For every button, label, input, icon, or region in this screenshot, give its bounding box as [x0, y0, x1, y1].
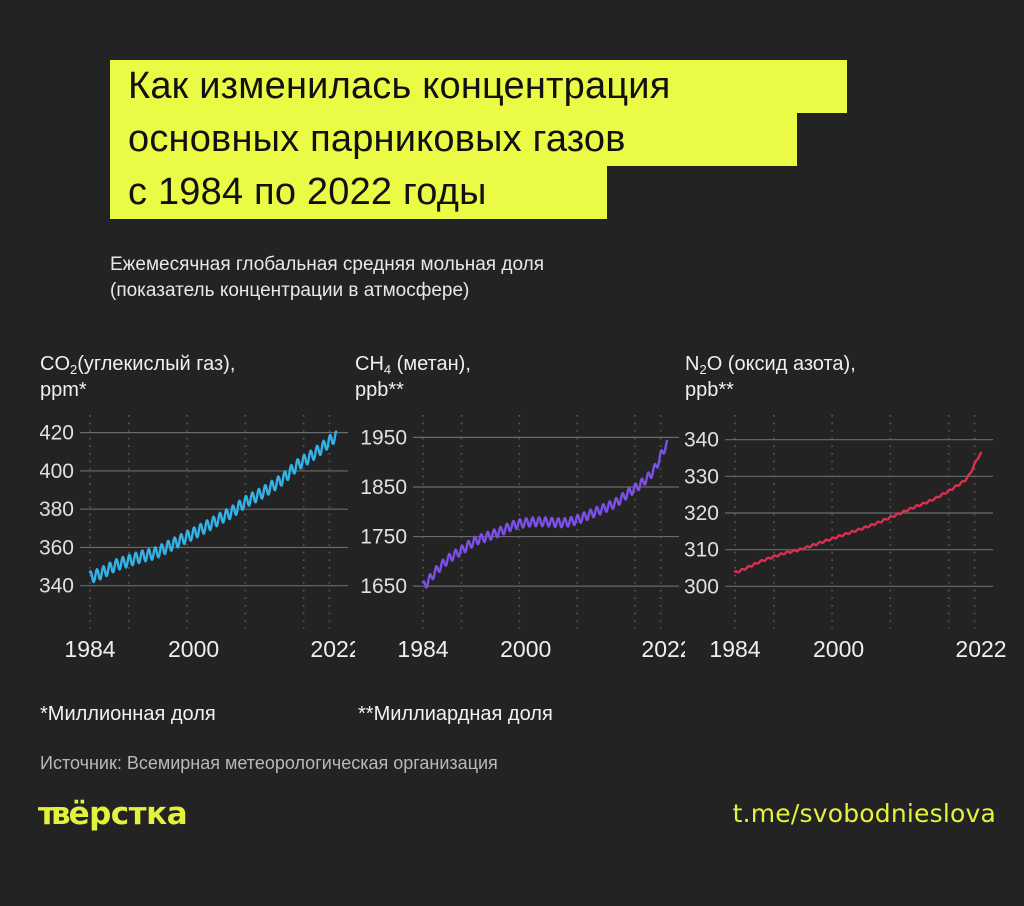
logo-ligature: тв — [38, 796, 66, 832]
y-tick-label: 1750 — [360, 526, 407, 549]
x-tick-label: 1984 — [397, 636, 448, 662]
y-tick-label: 380 — [40, 498, 74, 521]
page-title: Как изменилась концентрация основных пар… — [110, 60, 890, 219]
charts-row: CO2(углекислый газ),ppm* 340360380400420… — [0, 352, 1024, 682]
series-line-ch4 — [423, 441, 667, 588]
chart-panel-ch4: CH4 (метан),ppb** 1650175018501950198420… — [355, 352, 685, 663]
y-tick-label: 1650 — [360, 575, 407, 598]
title-line-1: Как изменилась концентрация — [110, 60, 847, 113]
x-tick-label: 2000 — [500, 636, 551, 662]
y-tick-label: 340 — [685, 429, 719, 452]
plot-svg-ch4: 1650175018501950198420002022 — [355, 413, 685, 663]
x-tick-label: 2022 — [641, 636, 685, 662]
x-tick-label: 1984 — [709, 636, 760, 662]
y-tick-label: 330 — [685, 465, 719, 488]
x-tick-label: 2000 — [168, 636, 219, 662]
y-tick-label: 1850 — [360, 476, 407, 499]
plot-area-co2: 340360380400420198420002022 — [40, 413, 355, 663]
chart-panel-n2o: N2O (оксид азота),ppb** 3003103203303401… — [685, 352, 1015, 663]
series-line-co2 — [90, 432, 336, 582]
chart-title-n2o: N2O (оксид азота),ppb** — [685, 352, 1015, 403]
x-tick-label: 1984 — [64, 636, 115, 662]
logo-rest: ёрстка — [69, 796, 188, 832]
title-line-3: с 1984 по 2022 годы — [110, 166, 607, 219]
chart-panel-co2: CO2(углекислый газ),ppm* 340360380400420… — [40, 352, 355, 663]
title-line-2: основных парниковых газов — [110, 113, 797, 166]
y-tick-label: 360 — [40, 536, 74, 559]
x-tick-label: 2022 — [310, 636, 355, 662]
plot-area-n2o: 300310320330340198420002022 — [685, 413, 1015, 663]
y-tick-label: 420 — [40, 422, 74, 445]
y-tick-label: 1950 — [360, 426, 407, 449]
verstka-logo: твёрстка — [38, 796, 187, 832]
y-tick-label: 300 — [685, 575, 719, 598]
footnote-ppm: *Миллионная доля — [40, 703, 216, 726]
plot-svg-co2: 340360380400420198420002022 — [40, 413, 355, 663]
chart-title-co2: CO2(углекислый газ),ppm* — [40, 352, 355, 403]
footnote-ppb: **Миллиардная доля — [358, 703, 553, 726]
plot-area-ch4: 1650175018501950198420002022 — [355, 413, 685, 663]
y-tick-label: 400 — [40, 460, 74, 483]
chart-title-ch4: CH4 (метан),ppb** — [355, 352, 685, 403]
subtitle: Ежемесячная глобальная средняя мольная д… — [110, 252, 544, 304]
source-line: Источник: Всемирная метеорологическая ор… — [40, 753, 498, 774]
y-tick-label: 320 — [685, 502, 719, 525]
y-tick-label: 310 — [685, 539, 719, 562]
x-tick-label: 2000 — [813, 636, 864, 662]
y-tick-label: 340 — [40, 575, 74, 598]
x-tick-label: 2022 — [955, 636, 1006, 662]
telegram-link[interactable]: t.me/svobodnieslova — [733, 799, 996, 828]
plot-svg-n2o: 300310320330340198420002022 — [685, 413, 1015, 663]
